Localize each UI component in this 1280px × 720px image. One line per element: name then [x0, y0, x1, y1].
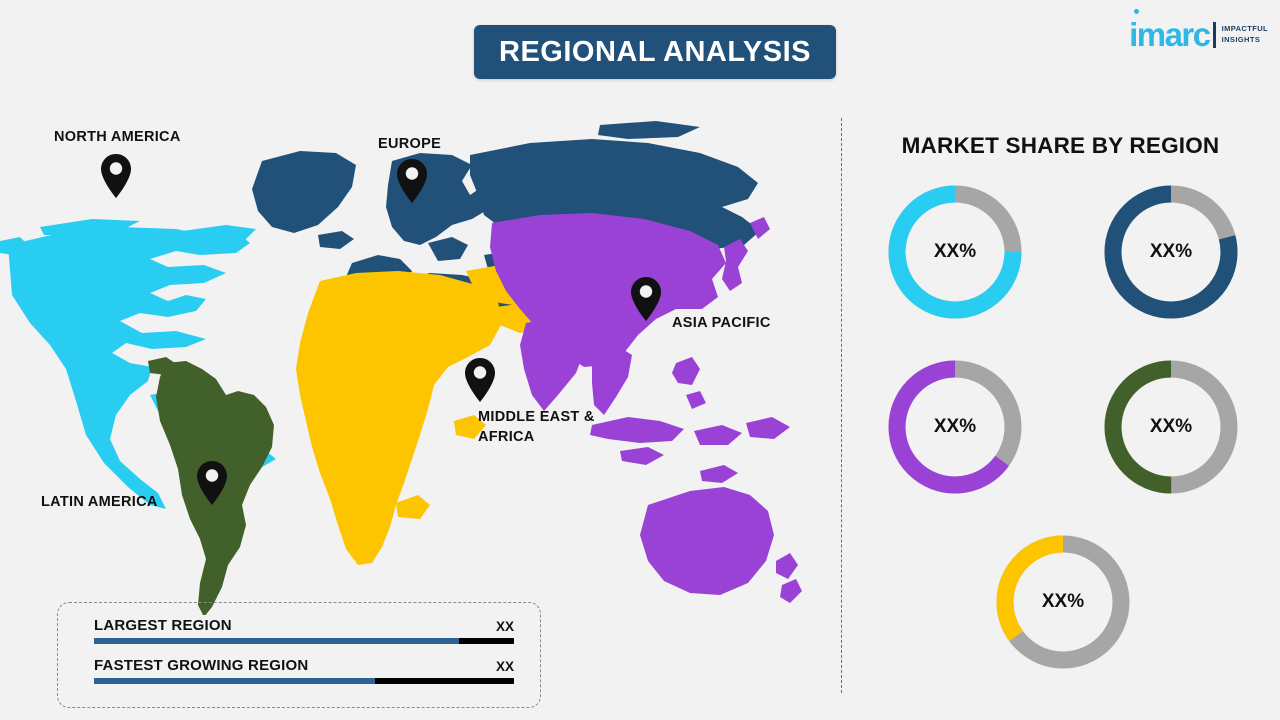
logo-wordmark: imarc [1129, 18, 1210, 51]
legend-value-fastest-growing-region: XX [496, 659, 514, 674]
infographic-page: REGIONAL ANALYSIS imarc IMPACTFUL INSIGH… [0, 0, 1280, 720]
donut-row-2: XX% XX% [858, 353, 1268, 501]
legend-bar-track-fastest-growing-region [94, 678, 514, 684]
donut-value-europe: XX% [1097, 178, 1245, 326]
donut-chart-europe: XX% [1097, 178, 1245, 326]
logo-wordmark-text: imarc [1129, 16, 1210, 53]
region-label-asia-pacific: ASIA PACIFIC [672, 314, 771, 334]
map-pin-middle-east-africa-icon [464, 357, 496, 403]
charts-panel-title: MARKET SHARE BY REGION [841, 133, 1280, 159]
panel-divider [841, 118, 842, 693]
donut-value-north-america: XX% [881, 178, 1029, 326]
page-title: REGIONAL ANALYSIS [499, 36, 811, 69]
world-map-panel: NORTH AMERICA EUROPE ASIA PACIFIC MIDDLE… [0, 95, 830, 615]
donut-chart-north-america: XX% [881, 178, 1029, 326]
donut-chart-grid: XX% XX% XX% XX% XX% [858, 178, 1268, 703]
region-label-north-america: NORTH AMERICA [54, 128, 181, 148]
donut-chart-asia-pacific: XX% [881, 353, 1029, 501]
map-pin-asia-pacific-icon [630, 276, 662, 322]
donut-row-3: XX% [858, 528, 1268, 676]
legend-row-largest-region: LARGEST REGION XX [94, 617, 514, 644]
map-pin-north-america-icon [100, 153, 132, 199]
map-pin-europe-icon [396, 158, 428, 204]
legend-bar-track-largest-region [94, 638, 514, 644]
donut-value-middle-east-africa: XX% [989, 528, 1137, 676]
donut-row-1: XX% XX% [858, 178, 1268, 326]
donut-chart-middle-east-africa: XX% [989, 528, 1137, 676]
legend-label-fastest-growing-region: FASTEST GROWING REGION [94, 657, 308, 674]
region-label-europe: EUROPE [378, 135, 441, 155]
region-summary-box: LARGEST REGION XX FASTEST GROWING REGION… [57, 602, 541, 708]
logo-dot-icon [1134, 9, 1139, 14]
logo-divider-bar [1213, 22, 1216, 48]
legend-bar-fill-largest-region [94, 638, 459, 644]
legend-bar-fill-fastest-growing-region [94, 678, 375, 684]
region-label-middle-east-africa: MIDDLE EAST & AFRICA [478, 408, 595, 447]
logo-tagline-line1: IMPACTFUL [1222, 24, 1268, 34]
imarc-logo: imarc IMPACTFUL INSIGHTS [1129, 18, 1268, 51]
page-title-banner: REGIONAL ANALYSIS [474, 25, 836, 79]
logo-tagline: IMPACTFUL INSIGHTS [1222, 24, 1268, 44]
legend-value-largest-region: XX [496, 619, 514, 634]
legend-row-fastest-growing-region: FASTEST GROWING REGION XX [94, 657, 514, 684]
logo-tagline-line2: INSIGHTS [1222, 35, 1268, 45]
region-label-latin-america: LATIN AMERICA [41, 493, 158, 513]
map-pin-latin-america-icon [196, 460, 228, 506]
legend-label-largest-region: LARGEST REGION [94, 617, 232, 634]
donut-chart-latin-america: XX% [1097, 353, 1245, 501]
donut-value-latin-america: XX% [1097, 353, 1245, 501]
donut-value-asia-pacific: XX% [881, 353, 1029, 501]
